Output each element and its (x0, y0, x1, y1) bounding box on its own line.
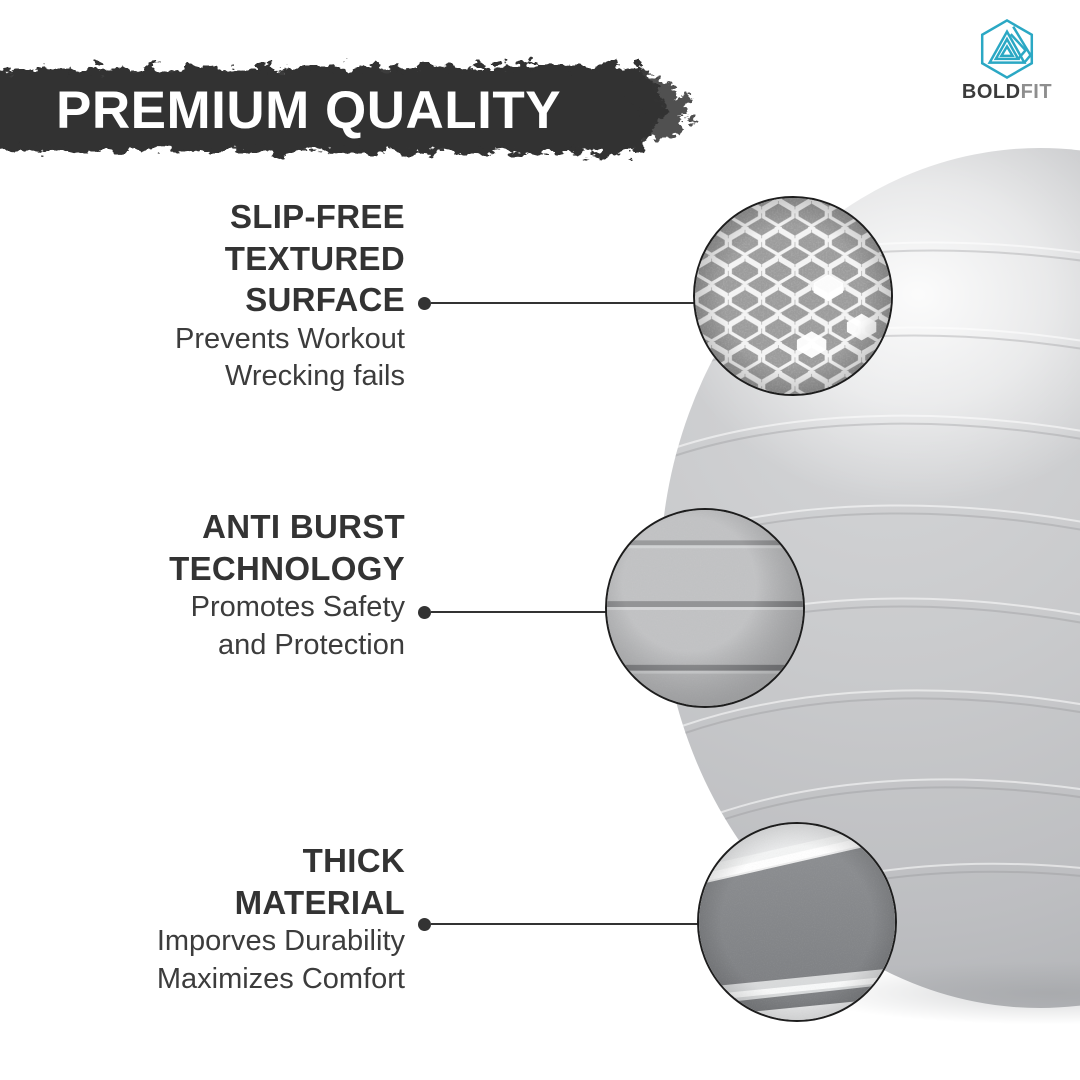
brand-logo: BOLDFIT (952, 18, 1062, 102)
material-cross-section-icon (699, 824, 895, 1020)
connector-line (431, 611, 612, 613)
feature-subtitle: Promotes Safety and Protection (60, 589, 405, 664)
connector-dot-icon (418, 606, 431, 619)
connector-line (431, 923, 703, 925)
feature-subtitle: Imporves Durability Maximizes Comfort (60, 923, 405, 998)
detail-circle-thick-material (697, 822, 897, 1022)
detail-circle-anti-burst (605, 508, 805, 708)
boldfit-hexagon-icon (976, 18, 1038, 80)
honeycomb-texture-icon (695, 198, 891, 394)
feature-subtitle: Prevents Workout Wrecking fails (60, 321, 405, 396)
feature-title: ANTI BURST TECHNOLOGY (60, 506, 405, 589)
infographic-page: BOLDFIT (0, 0, 1080, 1080)
connector-line (431, 302, 700, 304)
brand-name-light: FIT (1021, 81, 1053, 103)
connector-slip-free-textured-surface (418, 296, 700, 310)
feature-title: THICK MATERIAL (60, 840, 405, 923)
feature-block-thick-material: THICK MATERIAL Imporves Durability Maxim… (60, 840, 405, 999)
connector-anti-burst-technology (418, 605, 612, 619)
connector-dot-icon (418, 918, 431, 931)
feature-block-slip-free-textured-surface: SLIP-FREE TEXTURED SURFACE Prevents Work… (60, 196, 405, 396)
detail-circle-textured-surface (693, 196, 893, 396)
connector-thick-material (418, 917, 703, 931)
brand-name-bold: BOLD (962, 81, 1021, 103)
feature-block-anti-burst-technology: ANTI BURST TECHNOLOGY Promotes Safety an… (60, 506, 405, 665)
ridged-surface-icon (607, 510, 803, 706)
header-banner: PREMIUM QUALITY (0, 54, 700, 166)
brand-wordmark: BOLDFIT (962, 82, 1052, 102)
banner-title: PREMIUM QUALITY (56, 54, 561, 166)
connector-dot-icon (418, 297, 431, 310)
feature-title: SLIP-FREE TEXTURED SURFACE (60, 196, 405, 321)
